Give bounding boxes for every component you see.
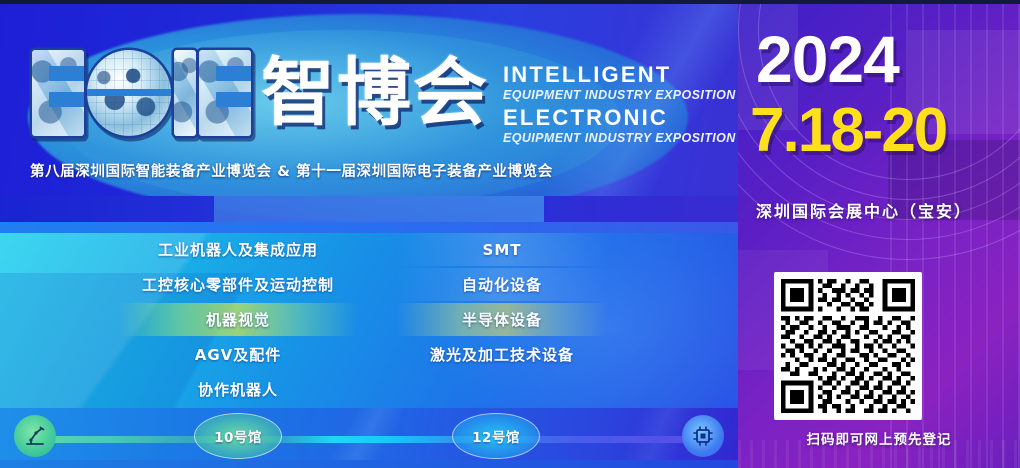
english-electronic: ELECTRONIC (503, 106, 736, 130)
category-item-motion-control[interactable]: 工控核心零部件及运动控制 (118, 268, 358, 301)
logo-globe-o-icon (87, 50, 171, 136)
english-intelligent: INTELLIGENT (503, 63, 736, 87)
logo-chinese-title: 智博会 (261, 50, 489, 136)
event-dates: 7.18-20 (750, 98, 946, 164)
category-columns: 工业机器人及集成应用 工控核心零部件及运动控制 机器视觉 AGV及配件 协作机器… (0, 233, 760, 408)
event-venue: 深圳国际会展中心（宝安） (756, 198, 972, 222)
logo-letter-e-icon (32, 50, 84, 136)
hall-badge-12[interactable]: 12号馆 (452, 413, 540, 459)
hall-rail: 10号馆 12号馆 (0, 408, 760, 468)
logo-english-block: INTELLIGENT EQUIPMENT INDUSTRY EXPOSITIO… (503, 63, 736, 146)
english-intelligent-sub: EQUIPMENT INDUSTRY EXPOSITION (503, 87, 736, 103)
robot-arm-icon (14, 415, 56, 457)
hall-badge-10[interactable]: 10号馆 (194, 413, 282, 459)
category-item-machine-vision[interactable]: 机器视觉 (118, 303, 358, 336)
category-item-collaborative-robots[interactable]: 协作机器人 (118, 373, 358, 406)
event-subtitle: 第八届深圳国际智能装备产业博览会 & 第十一届深圳国际电子装备产业博览会 (30, 160, 553, 181)
logo-lockup: 智博会 INTELLIGENT EQUIPMENT INDUSTRY EXPOS… (32, 50, 736, 146)
brand-panel: 智博会 INTELLIGENT EQUIPMENT INDUSTRY EXPOS… (0, 0, 760, 232)
divider-band (0, 222, 760, 233)
logo-letter-i-icon (174, 50, 196, 136)
event-year: 2024 (756, 24, 899, 94)
category-item-laser-processing[interactable]: 激光及加工技术设备 (396, 338, 608, 371)
eoie-logomark (32, 50, 251, 136)
qr-caption: 扫码即可网上预先登记 (738, 428, 1020, 448)
rail-connector-line (30, 436, 720, 443)
rail-base-line (0, 460, 760, 468)
poster-banner: 智博会 INTELLIGENT EQUIPMENT INDUSTRY EXPOS… (0, 0, 1020, 468)
english-electronic-sub: EQUIPMENT INDUSTRY EXPOSITION (503, 130, 736, 146)
category-item-automation[interactable]: 自动化设备 (396, 268, 608, 301)
chip-icon (682, 415, 724, 457)
category-item-smt[interactable]: SMT (396, 233, 608, 266)
date-panel: 2024 7.18-20 深圳国际会展中心（宝安） (738, 0, 1020, 468)
qr-code[interactable] (774, 272, 922, 420)
category-column-right: SMT 自动化设备 半导体设备 激光及加工技术设备 (396, 233, 608, 373)
logo-letter-e2-icon (199, 50, 251, 136)
category-panel: 工业机器人及集成应用 工控核心零部件及运动控制 机器视觉 AGV及配件 协作机器… (0, 233, 760, 408)
category-item-industrial-robots[interactable]: 工业机器人及集成应用 (118, 233, 358, 266)
category-item-semiconductor[interactable]: 半导体设备 (396, 303, 608, 336)
top-frame-line (0, 0, 1020, 4)
category-item-agv[interactable]: AGV及配件 (118, 338, 358, 371)
category-column-left: 工业机器人及集成应用 工控核心零部件及运动控制 机器视觉 AGV及配件 协作机器… (118, 233, 358, 408)
